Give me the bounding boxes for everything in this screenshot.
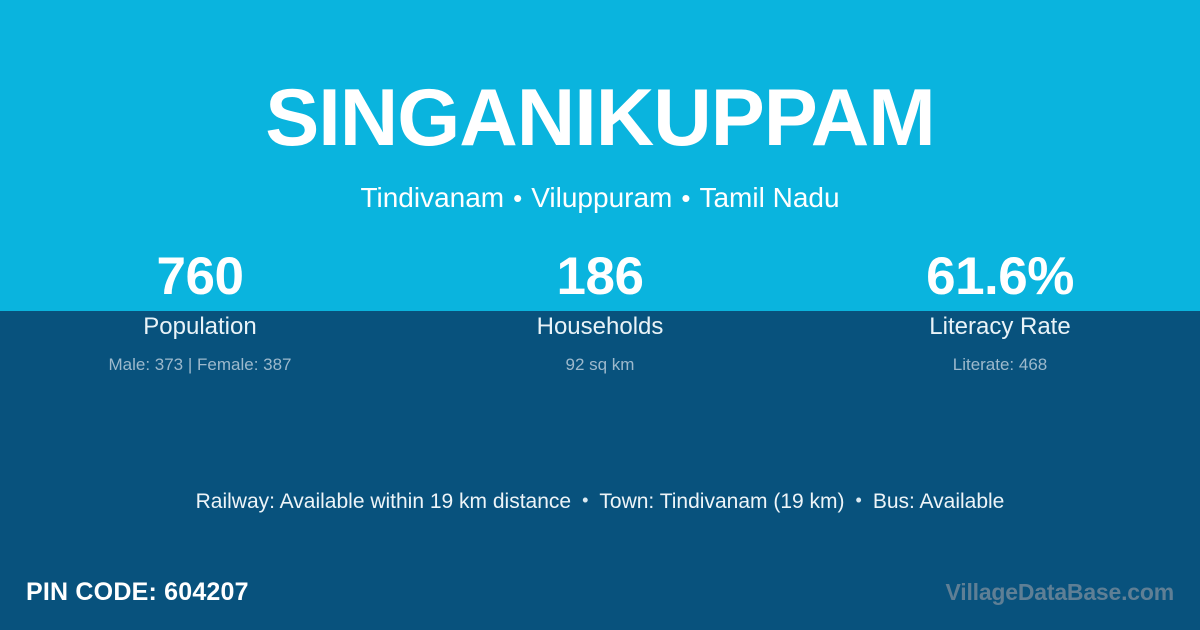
stats-row: 760 Population Male: 373 | Female: 387 1… xyxy=(0,248,1200,377)
stat-population: 760 Population Male: 373 | Female: 387 xyxy=(0,248,400,377)
breadcrumb: Tindivanam•Viluppuram•Tamil Nadu xyxy=(0,183,1200,214)
pin-code: PIN CODE: 604207 xyxy=(26,577,249,607)
breadcrumb-separator-1: • xyxy=(504,183,531,213)
stat-label: Population xyxy=(0,310,400,343)
facility-town: Town: Tindivanam (19 km) xyxy=(599,490,844,513)
stat-sublabel: 92 sq km xyxy=(400,353,800,377)
breadcrumb-taluk: Tindivanam xyxy=(360,182,504,213)
stat-value: 760 xyxy=(0,248,400,305)
stat-label: Households xyxy=(400,310,800,343)
breadcrumb-separator-2: • xyxy=(672,183,699,213)
page-title: SINGANIKUPPAM xyxy=(0,78,1200,159)
stat-value: 186 xyxy=(400,248,800,305)
facility-railway: Railway: Available within 19 km distance xyxy=(196,490,571,513)
stat-value: 61.6% xyxy=(800,248,1200,305)
breadcrumb-district: Viluppuram xyxy=(531,182,672,213)
facility-separator-1: • xyxy=(571,490,599,510)
stat-label: Literacy Rate xyxy=(800,310,1200,343)
footer: PIN CODE: 604207 VillageDataBase.com xyxy=(0,572,1200,612)
facility-bus: Bus: Available xyxy=(873,490,1005,513)
facility-separator-2: • xyxy=(845,490,873,510)
brand-watermark: VillageDataBase.com xyxy=(946,577,1174,607)
stat-households: 186 Households 92 sq km xyxy=(400,248,800,377)
stat-sublabel: Male: 373 | Female: 387 xyxy=(0,353,400,377)
breadcrumb-state: Tamil Nadu xyxy=(699,182,839,213)
facilities-line: Railway: Available within 19 km distance… xyxy=(0,485,1200,517)
stat-sublabel: Literate: 468 xyxy=(800,353,1200,377)
village-info-card: SINGANIKUPPAM Tindivanam•Viluppuram•Tami… xyxy=(0,0,1200,630)
stat-literacy-rate: 61.6% Literacy Rate Literate: 468 xyxy=(800,248,1200,377)
